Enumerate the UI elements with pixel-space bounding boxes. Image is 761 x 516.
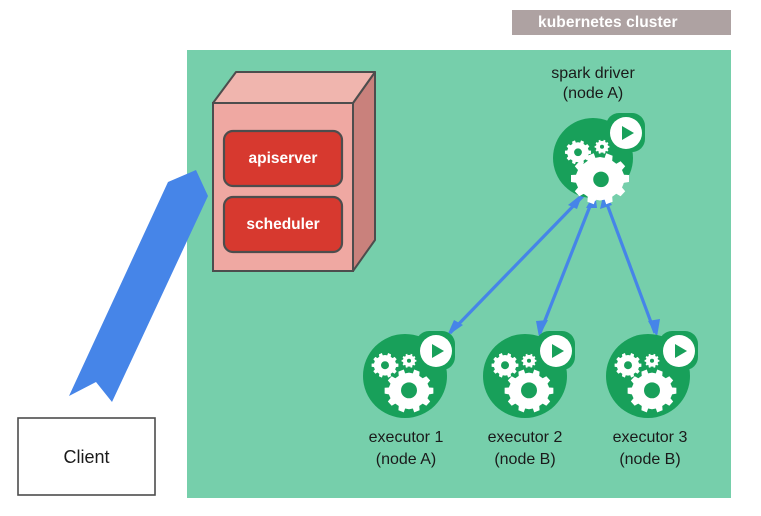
client-box-label: Client [18,447,155,468]
cube-side-face [353,72,375,271]
executor-3-label-line1: executor 3 [580,428,720,447]
kubernetes-cluster-banner-label: kubernetes cluster [538,14,678,32]
spark-driver-label-line1: spark driver [513,64,673,83]
diagram-canvas: kubernetes cluster apiserver scheduler C… [0,0,761,516]
spark-driver-label-line2: (node A) [513,84,673,103]
executor-2-label-line1: executor 2 [455,428,595,447]
executor-2-label-line2: (node B) [455,450,595,469]
apiserver-chip-label: apiserver [234,150,332,168]
scheduler-chip-label: scheduler [234,216,332,234]
executor-3-label-line2: (node B) [580,450,720,469]
cube-top-face [213,72,375,103]
